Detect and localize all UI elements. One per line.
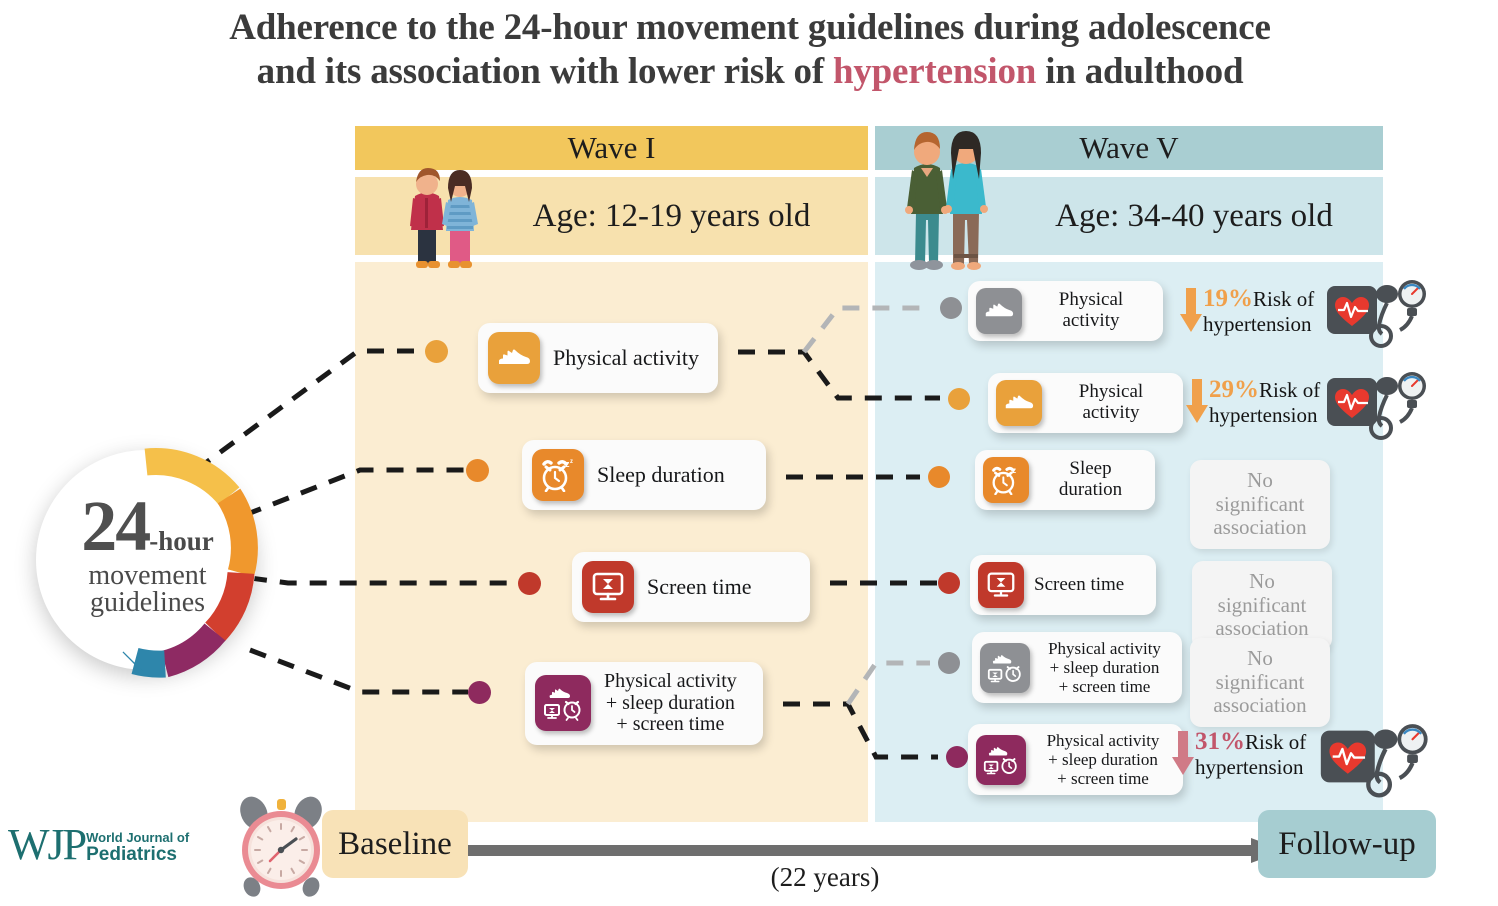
wave5-dot-physical-activity-grey [940,297,962,319]
label-line1: Sleep [1069,458,1111,479]
shoe-icon [996,380,1042,426]
label-line1: Physical [1059,289,1123,310]
label-line2: duration [1059,479,1122,500]
page-title: Adherence to the 24-hour movement guidel… [40,6,1460,93]
monitor-hourglass-icon [582,561,634,613]
wave1-card-label: Sleep duration [597,463,725,487]
teen-couple-illustration [398,160,490,275]
wave1-card-combined[interactable]: Physical activity + sleep duration + scr… [525,662,763,745]
wave1-dot-sleep-duration [466,459,489,482]
no-assoc-line1: No significant [1216,646,1305,694]
wjp-logo: WJP World Journal of Pediatrics [8,823,189,867]
title-line-2-suffix: in adulthood [1036,51,1243,92]
combined-icon [980,643,1030,693]
risk-text-2: hypertension [1195,755,1303,779]
combo-line2: + sleep duration [1048,750,1158,769]
title-line-1: Adherence to the 24-hour movement guidel… [40,6,1460,50]
wave1-dot-combined [468,681,491,704]
result-text: 19%Risk of hypertension [1203,285,1314,336]
wave1-card-physical-activity[interactable]: Physical activity [478,323,718,393]
wave5-age-label: Age: 34-40 years old [1055,198,1333,235]
donut-number: 24 [81,486,149,566]
wave5-card-sleep-duration[interactable]: z Sleep duration [975,450,1155,510]
down-arrow-icon [1180,288,1202,332]
risk-text-1: Risk of [1259,378,1320,402]
combo-line1: Physical activity [1048,639,1161,658]
risk-text-1: Risk of [1253,287,1314,311]
shoe-icon [488,332,540,384]
wave1-age-label: Age: 12-19 years old [533,198,811,235]
wjp-acronym: WJP [8,823,85,867]
followup-label: Follow-up [1278,826,1416,863]
combined-icon [535,675,591,731]
wjp-subtitle-1: World Journal of [86,831,189,845]
alarm-clock-icon: z z [532,449,584,501]
wave1-card-screen-time[interactable]: Screen time [572,552,810,622]
wave5-card-label-combined: Physical activity + sleep duration + scr… [1040,639,1169,696]
combo-line3: + screen time [1059,677,1151,696]
timeline-arrow [455,838,1285,864]
blood-pressure-monitor-icon [1325,278,1435,359]
monitor-hourglass-icon [978,562,1024,608]
result-physical-activity: 29%Risk of hypertension [1186,376,1320,427]
wave5-dot-combined-grey [938,652,960,674]
donut-hour: -hour [149,526,214,556]
risk-text-2: hypertension [1209,403,1317,427]
wave5-card-label: Physical activity [1032,290,1150,331]
blood-pressure-monitor-icon [1325,370,1435,451]
baseline-label: Baseline [338,826,452,863]
no-assoc-line2: association [1215,616,1308,640]
wave5-card-physical-activity[interactable]: Physical activity [988,373,1183,433]
wave1-card-label: Physical activity [553,346,699,370]
alarm-clock-icon: z [983,457,1029,503]
donut-segment-3 [165,632,215,664]
risk-text-1: Risk of [1245,730,1306,754]
combo-line3: + screen time [1057,769,1149,788]
result-text: 31%Risk of hypertension [1195,728,1306,779]
wjp-subtitle-2: Pediatrics [86,845,189,865]
donut-line2: movement [40,563,255,590]
blood-pressure-monitor-icon [1318,722,1438,809]
donut-center-label: 24-hour movement guidelines [40,492,255,617]
adult-couple-illustration [895,120,1000,275]
no-assoc-line1: No significant [1216,468,1305,516]
combo-line2: + sleep duration [606,692,735,714]
donut-chart: 24-hour movement guidelines [30,440,290,700]
duration-text: (22 years) [771,862,880,892]
no-assoc-line1: No significant [1218,569,1307,617]
wave5-card-label: Sleep duration [1039,459,1142,500]
alarm-clock-illustration [228,795,336,904]
duration-label: (22 years) [700,862,950,893]
combined-icon [976,735,1026,785]
wave5-card-label-combined: Physical activity + sleep duration + scr… [1036,731,1170,788]
wave1-header-label: Wave I [568,130,656,166]
wave5-card-label: Physical activity [1052,382,1170,423]
wave5-dot-physical-activity [948,388,970,410]
no-assoc-line2: association [1213,515,1306,539]
label-line2: activity [1083,402,1140,423]
wave5-card-combined[interactable]: Physical activity + sleep duration + scr… [968,724,1183,795]
no-association-screen: No significant association [1192,561,1332,650]
followup-box: Follow-up [1258,810,1436,878]
down-arrow-icon [1172,731,1194,775]
wave1-card-label-combined: Physical activity + sleep duration + scr… [604,671,737,736]
wave1-dot-screen-time [518,572,541,595]
donut-line3: guidelines [40,590,255,617]
wave5-card-label: Screen time [1034,575,1124,596]
wave5-dot-screen-time [938,572,960,594]
risk-percent: 31% [1195,728,1245,755]
shoe-icon [976,288,1022,334]
baseline-box: Baseline [322,810,468,878]
combo-line1: Physical activity [1047,731,1160,750]
title-highlight-hypertension: hypertension [833,51,1036,92]
wave5-dot-combined [946,746,968,768]
wave5-card-physical-activity-grey[interactable]: Physical activity [968,281,1163,341]
donut-segment-0 [146,461,229,496]
risk-percent: 19% [1203,285,1253,312]
no-association-combined: No significant association [1190,638,1330,727]
svg-text:z: z [1012,466,1016,475]
result-text: 29%Risk of hypertension [1209,376,1320,427]
wave1-card-sleep-duration[interactable]: z z Sleep duration [522,440,766,510]
result-combined: 31%Risk of hypertension [1172,728,1306,779]
down-arrow-icon [1186,379,1208,423]
risk-text-2: hypertension [1203,312,1311,336]
title-line-2-prefix: and its association with lower risk of [257,51,833,92]
risk-percent: 29% [1209,376,1259,403]
donut-segment-4 [135,661,165,664]
no-assoc-line2: association [1213,693,1306,717]
wave5-card-screen-time[interactable]: Screen time [970,555,1156,615]
combo-line3: + screen time [616,713,724,735]
no-association-sleep: No significant association [1190,460,1330,549]
wave5-dot-sleep-duration [928,466,950,488]
combo-line1: Physical activity [604,670,737,692]
wave5-card-combined-grey[interactable]: Physical activity + sleep duration + scr… [972,632,1182,703]
title-line-1-text: Adherence to the 24-hour movement guidel… [229,7,1271,48]
wave1-card-label: Screen time [647,575,751,599]
label-line2: activity [1063,310,1120,331]
title-line-2: and its association with lower risk of h… [40,50,1460,94]
svg-text:z: z [570,459,573,465]
combo-line2: + sleep duration [1050,658,1160,677]
wave5-header-label: Wave V [1079,130,1178,166]
label-line1: Physical [1079,381,1143,402]
result-physical-activity-grey: 19%Risk of hypertension [1180,285,1314,336]
wave1-dot-physical-activity [425,340,448,363]
